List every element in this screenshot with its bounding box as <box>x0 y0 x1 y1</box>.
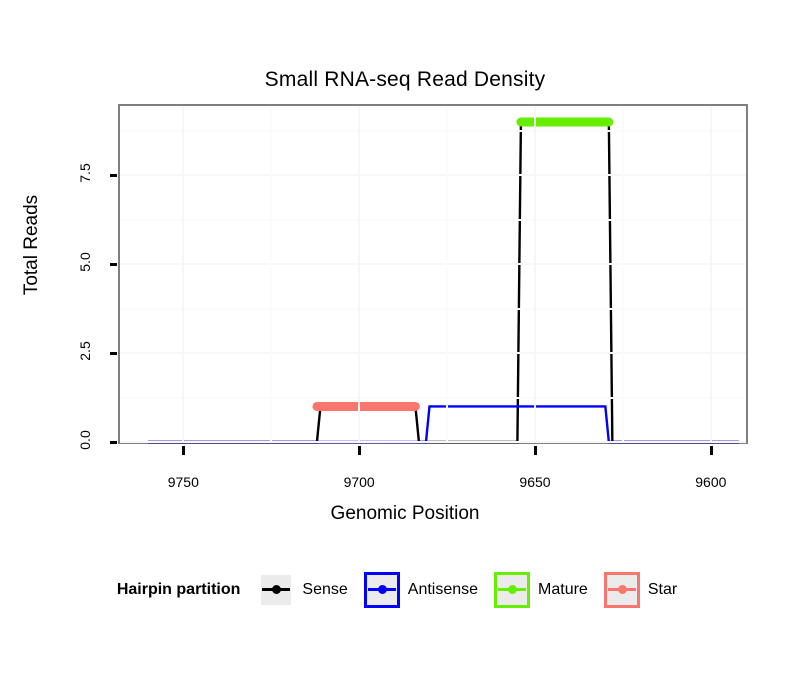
chart-legend: Hairpin partition SenseAntisenseMatureSt… <box>0 572 810 608</box>
legend-label-star: Star <box>648 581 677 599</box>
gridline-horizontal-major <box>120 174 746 176</box>
x-tick-mark <box>710 446 713 455</box>
gridline-vertical-major <box>358 106 360 442</box>
legend-item-mature[interactable]: Mature <box>494 572 588 608</box>
y-tick-label: 7.5 <box>77 156 93 190</box>
gridline-horizontal-major <box>120 441 746 443</box>
legend-items: SenseAntisenseMatureStar <box>258 572 693 608</box>
legend-item-antisense[interactable]: Antisense <box>364 572 478 608</box>
y-tick-label: 0.0 <box>77 423 93 457</box>
legend-key-dot <box>508 585 517 594</box>
legend-key-dot <box>272 585 281 594</box>
legend-item-star[interactable]: Star <box>604 572 677 608</box>
chart-container: Small RNA-seq Read Density Total Reads G… <box>0 0 810 690</box>
legend-key-dot <box>378 585 387 594</box>
y-tick-mark <box>110 441 117 444</box>
y-axis-title: Total Reads <box>21 75 43 415</box>
legend-label-sense: Sense <box>302 581 347 599</box>
legend-key-sense <box>258 572 294 608</box>
legend-title: Hairpin partition <box>117 581 241 599</box>
gridline-horizontal-major <box>120 263 746 265</box>
gridline-horizontal-minor <box>120 219 746 221</box>
gridline-vertical-minor <box>622 106 624 442</box>
series-line-antisense <box>148 406 739 442</box>
y-tick-label: 2.5 <box>77 334 93 368</box>
x-tick-label: 9650 <box>500 474 570 490</box>
gridline-horizontal-minor <box>120 397 746 399</box>
x-axis-title: Genomic Position <box>0 503 810 525</box>
y-tick-label: 5.0 <box>77 245 93 279</box>
gridline-vertical-major <box>534 106 536 442</box>
x-tick-label: 9600 <box>676 474 746 490</box>
x-tick-label: 9750 <box>148 474 218 490</box>
x-tick-mark <box>182 446 185 455</box>
gridline-horizontal-minor <box>120 308 746 310</box>
gridline-vertical-major <box>182 106 184 442</box>
plot-series-layer <box>120 106 746 442</box>
gridline-vertical-minor <box>270 106 272 442</box>
legend-key-dot <box>618 585 627 594</box>
gridline-horizontal-major <box>120 352 746 354</box>
chart-title: Small RNA-seq Read Density <box>0 68 810 92</box>
legend-label-antisense: Antisense <box>408 581 478 599</box>
legend-key-star <box>604 572 640 608</box>
legend-label-mature: Mature <box>538 581 588 599</box>
x-tick-mark <box>358 446 361 455</box>
gridline-vertical-minor <box>446 106 448 442</box>
x-tick-label: 9700 <box>324 474 394 490</box>
legend-item-sense[interactable]: Sense <box>258 572 347 608</box>
y-tick-mark <box>110 263 117 266</box>
gridline-vertical-major <box>710 106 712 442</box>
y-tick-mark <box>110 174 117 177</box>
plot-panel <box>118 104 748 444</box>
gridline-horizontal-minor <box>120 130 746 132</box>
y-tick-mark <box>110 352 117 355</box>
legend-key-mature <box>494 572 530 608</box>
series-line-sense <box>148 122 739 442</box>
legend-key-antisense <box>364 572 400 608</box>
plot-inner <box>120 106 746 442</box>
x-tick-mark <box>534 446 537 455</box>
